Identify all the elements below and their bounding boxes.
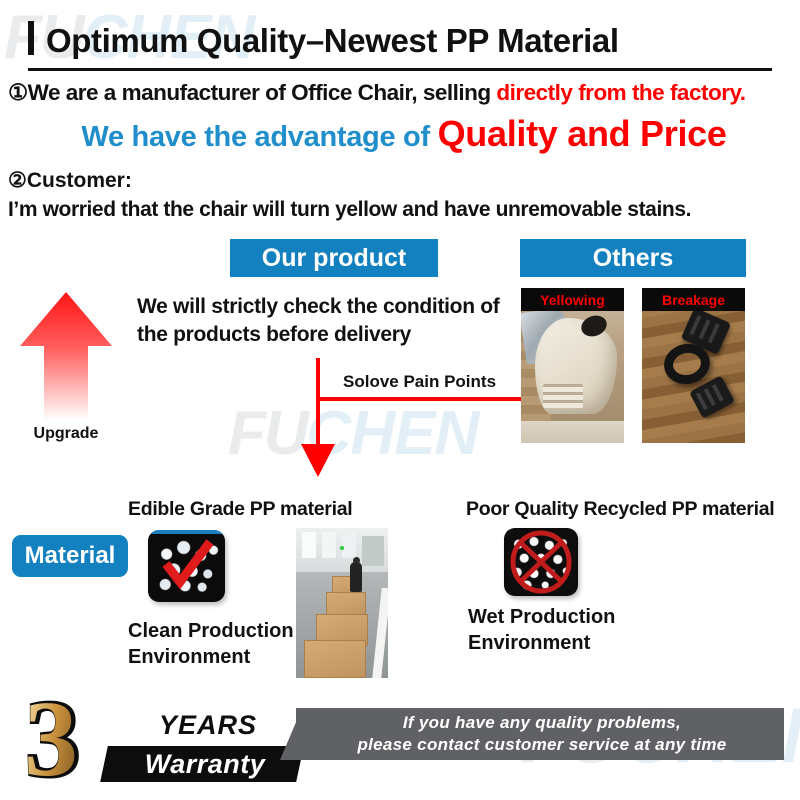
manufacturer-statement: ①We are a manufacturer of Office Chair, … [8,80,800,106]
title-accent-bar-icon [28,21,34,55]
edible-pellets-swatch [148,530,225,602]
warranty-years-label: YEARS [120,710,296,740]
defect-caption: Yellowing [521,288,624,311]
warehouse-windows [302,532,316,558]
watermark-logo-middle: FUCHEN [228,398,478,469]
down-arrow-icon [300,440,336,478]
no-entry-slash-icon [508,530,574,594]
our-product-badge-label: Our product [262,244,406,273]
title-underline-divider [28,68,772,71]
advantage-statement-blue: We have the advantage of [81,121,437,153]
connector-horizontal-line [316,397,524,401]
customer-heading: ②Customer: [8,168,132,193]
others-badge-label: Others [593,244,674,273]
page-title: Optimum Quality–Newest PP Material [46,22,619,60]
customer-concern-text: I’m worried that the chair will turn yel… [8,198,691,222]
material-badge-label: Material [25,542,116,570]
wet-production-label: Wet Production Environment [468,604,678,656]
defect-card-yellowing: Yellowing [521,288,624,443]
upgrade-label: Upgrade [18,425,114,443]
support-message-line2: please contact customer service at any t… [357,734,726,756]
others-badge: Others [520,239,746,277]
worker-figure [350,562,362,592]
swatch-top-strip [148,530,225,534]
defect-caption: Breakage [642,288,745,311]
support-message-line1: If you have any quality problems, [403,712,681,734]
warehouse-door [362,536,384,566]
our-product-badge: Our product [230,239,438,277]
page-title-row: Optimum Quality–Newest PP Material [28,18,772,60]
watermark-fu-text: FU [228,399,307,468]
connector-label: Solove Pain Points [340,372,499,392]
recycled-pellets-swatch [504,528,578,596]
edible-grade-title: Edible Grade PP material [128,498,352,521]
manufacturer-statement-black: We are a manufacturer of Office Chair, s… [28,80,497,105]
warranty-word-label: Warranty [110,748,300,780]
warehouse-boxes-photo [296,528,388,678]
defect-card-breakage: Breakage [642,288,745,443]
advantage-statement-red: Quality and Price [438,113,727,154]
indicator-light-icon [340,546,344,550]
poor-quality-title: Poor Quality Recycled PP material [466,498,774,521]
floor-strip [521,421,624,443]
up-arrow-icon [18,290,114,422]
support-message-text: If you have any quality problems, please… [300,710,784,758]
check-mark-icon [158,538,216,594]
list-marker-1: ① [8,80,28,105]
carton-box [304,640,366,678]
clean-production-label: Clean Production Environment [128,618,308,670]
part-slots [543,384,583,408]
material-badge: Material [12,535,128,577]
broken-plastic-parts-photo [642,288,745,443]
quality-check-copy: We will strictly check the condition of … [137,293,507,348]
manufacturer-statement-red: directly from the factory. [496,80,745,105]
advantage-statement: We have the advantage of Quality and Pri… [8,113,800,155]
warranty-badge: 3 3 YEARS Warranty [24,692,314,792]
yellowed-armrest-photo [521,288,624,443]
infographic-page: FUCHEN FUCHEN FUCHEN Optimum Quality–New… [0,0,800,800]
